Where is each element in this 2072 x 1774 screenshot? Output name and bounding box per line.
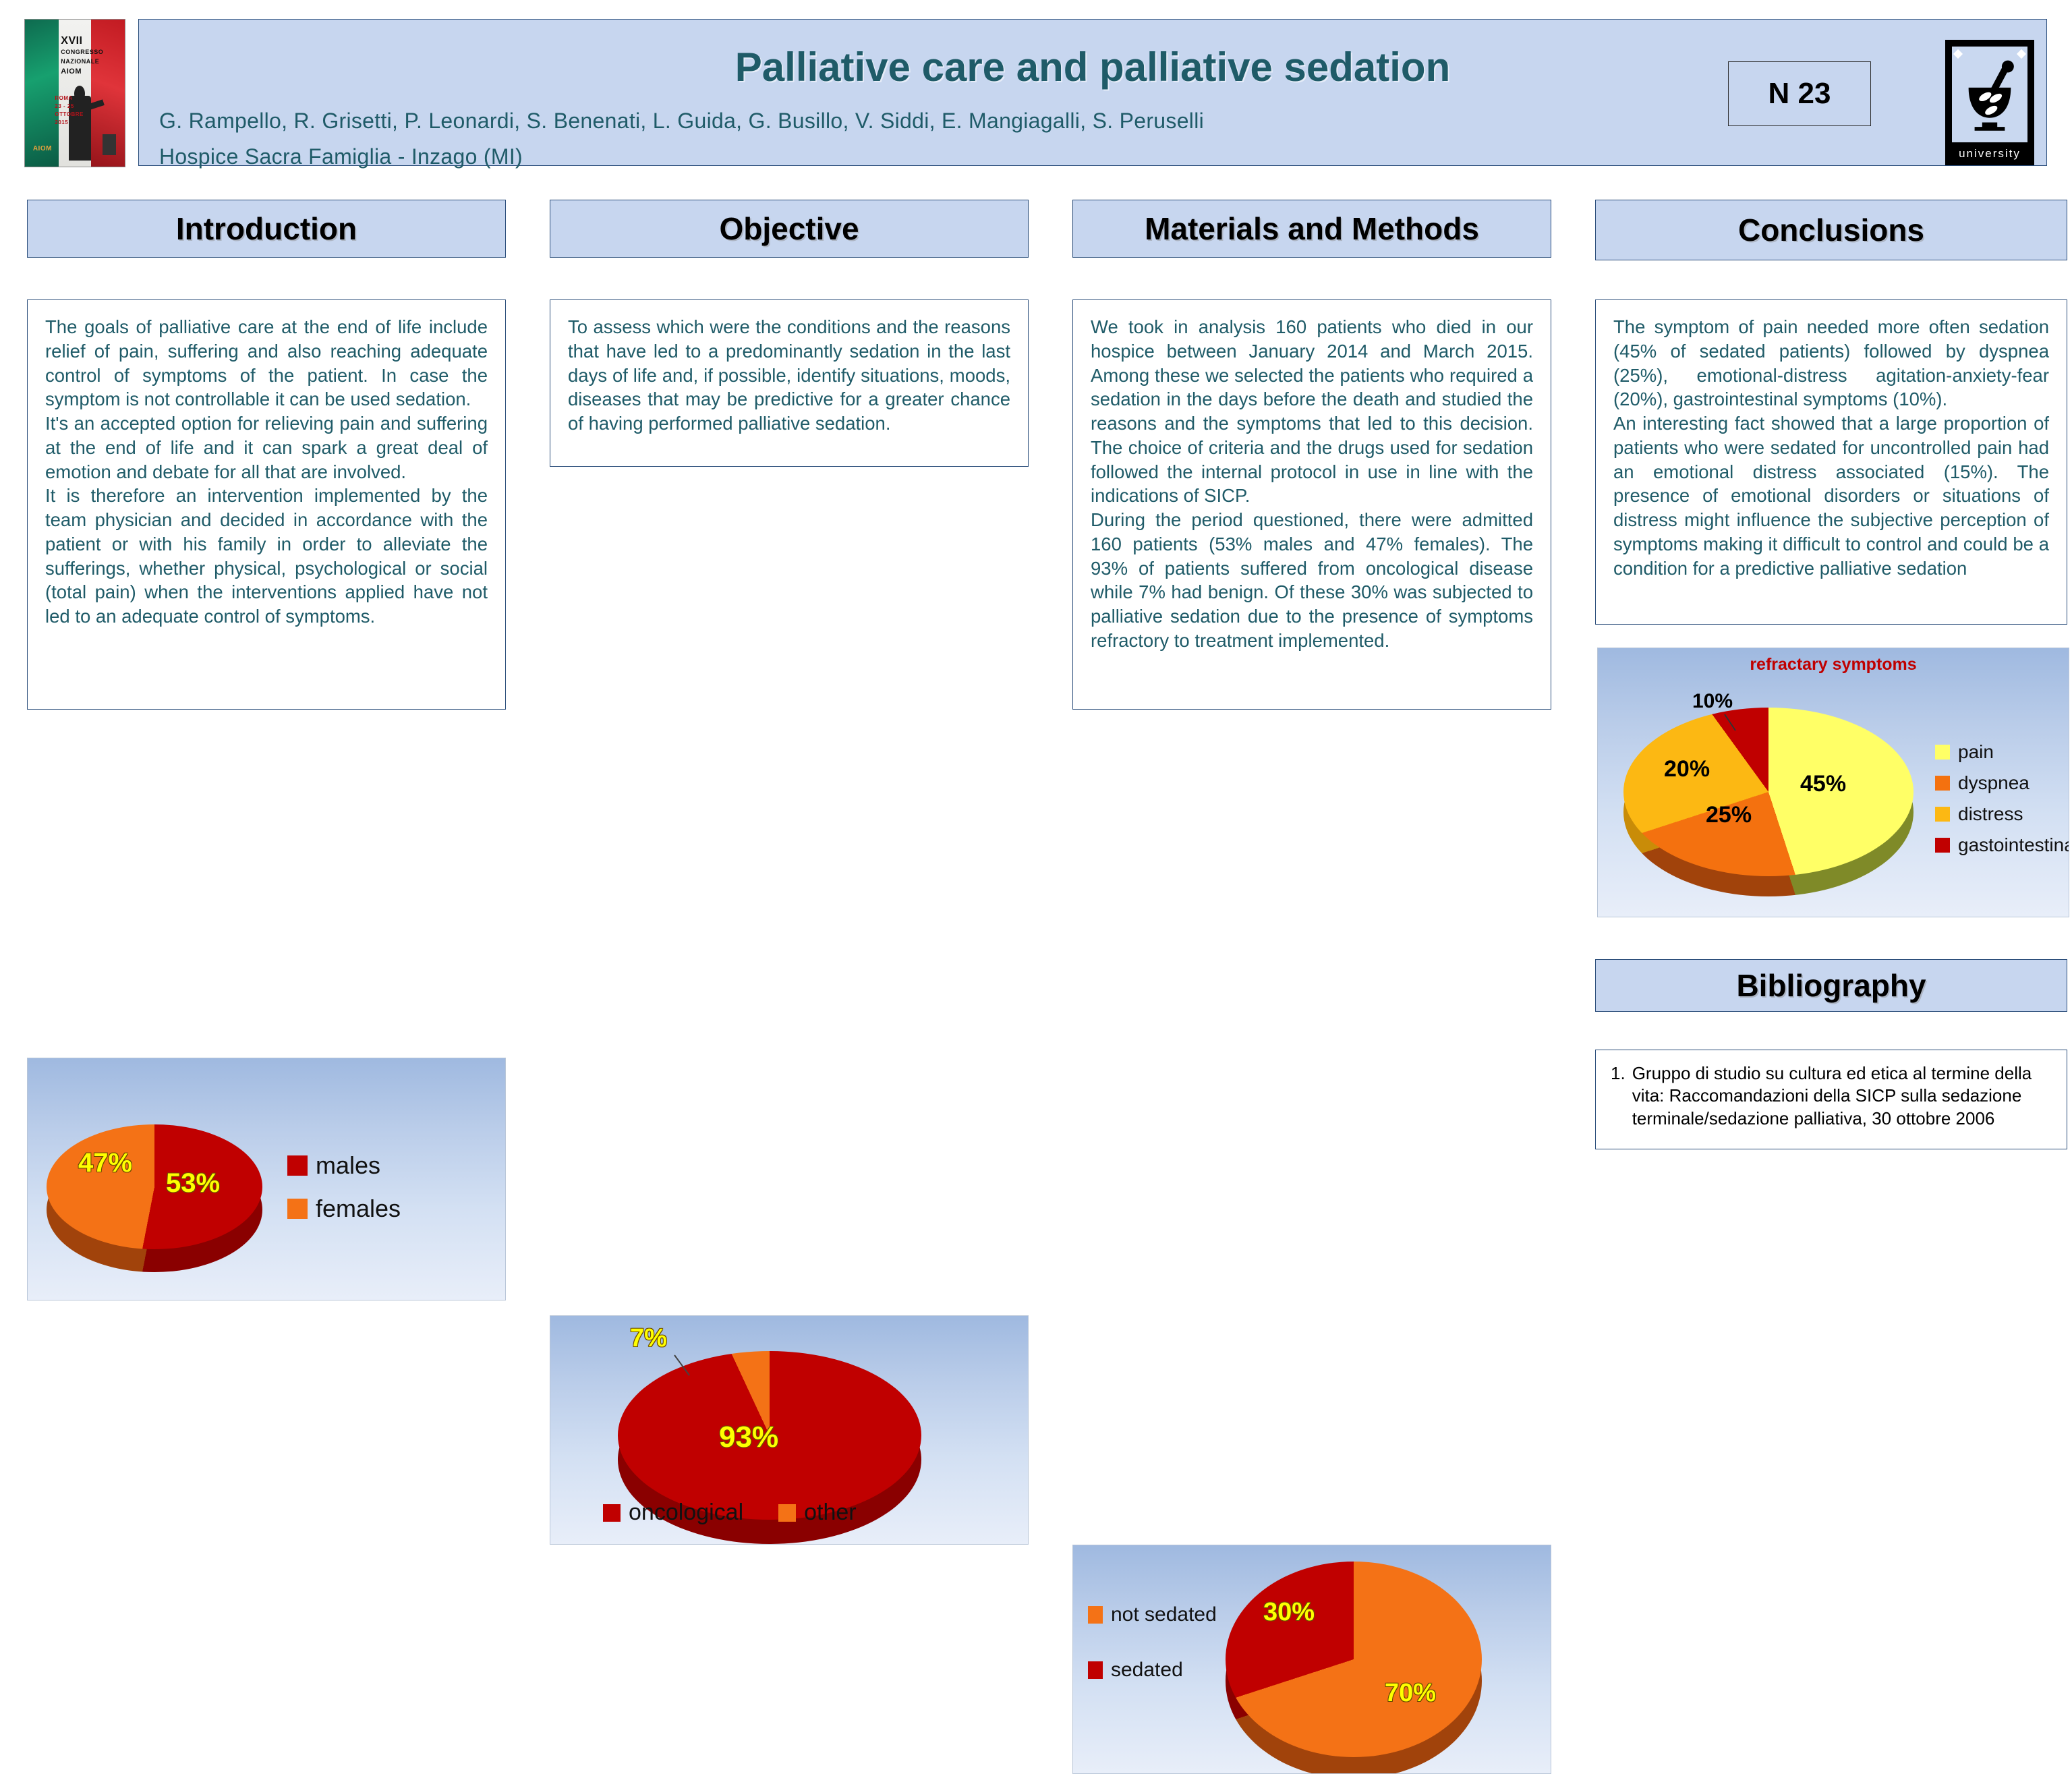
section-body-bibliography: 1. Gruppo di studio su cultura ed etica … <box>1595 1050 2067 1149</box>
slice-label-dyspnea: 25% <box>1706 802 1752 828</box>
leader-line-gastointestinal <box>1723 713 1750 740</box>
bibliography-entry-text: Gruppo di studio su cultura ed etica al … <box>1632 1062 2052 1130</box>
legend-label-females: females <box>316 1195 401 1223</box>
section-heading-objective: Objective <box>550 200 1029 258</box>
poster-number-badge: N 23 <box>1728 61 1871 126</box>
legend-sedation: not sedated sedated <box>1088 1603 1217 1691</box>
legend-swatch-sedated <box>1088 1661 1103 1679</box>
thumbnail-line-3: NAZIONALE <box>61 59 99 65</box>
slice-label-sedated: 30% <box>1263 1598 1315 1627</box>
legend-item: gastointestinal <box>1935 834 2069 856</box>
bibliography-entry-number: 1. <box>1611 1062 1625 1130</box>
thumbnail-line-7: OTTOBRE <box>55 112 83 117</box>
section-heading-materials-and-methods: Materials and Methods <box>1072 200 1551 258</box>
legend-label-dyspnea: dyspnea <box>1958 772 2030 794</box>
chart-refractory-symptoms: refractary symptoms 45% 25% 20% 10% pain… <box>1597 648 2069 917</box>
mortar-and-pestle-icon <box>1952 47 2027 142</box>
legend-item: males <box>287 1151 401 1180</box>
legend-label-gastointestinal: gastointestinal <box>1958 834 2069 856</box>
legend-label-not-sedated: not sedated <box>1111 1603 1217 1626</box>
legend-label-sedated: sedated <box>1111 1659 1183 1682</box>
university-logo-label: university <box>1952 142 2027 165</box>
legend-item: sedated <box>1088 1659 1217 1682</box>
legend-label-males: males <box>316 1151 380 1180</box>
pie-graphic-refractory-symptoms <box>1623 708 1913 876</box>
chart-gender-distribution: 53% 47% males females <box>27 1058 506 1300</box>
slice-label-not-sedated: 70% <box>1385 1679 1436 1708</box>
slice-label-gastointestinal: 10% <box>1692 690 1733 713</box>
congress-poster-thumbnail: XVII CONGRESSO NAZIONALE AIOM ROMA 23 - … <box>24 19 125 167</box>
legend-item: dyspnea <box>1935 772 2069 794</box>
slice-label-oncological: 93% <box>719 1421 778 1454</box>
pie-graphic-sedation <box>1226 1562 1482 1757</box>
legend-label-pain: pain <box>1958 741 1994 763</box>
legend-swatch-distress <box>1935 807 1950 822</box>
author-list: G. Rampello, R. Grisetti, P. Leonardi, S… <box>159 109 1204 134</box>
legend-swatch-not-sedated <box>1088 1606 1103 1624</box>
legend-label-distress: distress <box>1958 803 2023 825</box>
aiom-logo-mark: AIOM <box>33 146 52 153</box>
chart-title-refractory-symptoms: refractary symptoms <box>1598 655 2069 675</box>
legend-refractory-symptoms: pain dyspnea distress gastointestinal <box>1935 741 2069 865</box>
thumbnail-line-5: ROMA <box>55 96 72 101</box>
legend-swatch-other <box>778 1504 796 1522</box>
thumbnail-line-4: AIOM <box>61 68 82 76</box>
objective-text: To assess which were the conditions and … <box>568 315 1010 436</box>
legend-swatch-oncological <box>603 1504 621 1522</box>
pie-graphic-gender <box>47 1124 262 1249</box>
affiliation: Hospice Sacra Famiglia - Inzago (MI) <box>159 144 523 169</box>
legend-label-other: other <box>804 1499 857 1526</box>
legend-item: oncological <box>603 1499 743 1526</box>
legend-swatch-dyspnea <box>1935 776 1950 791</box>
thumbnail-line-2: CONGRESSO <box>61 49 103 55</box>
slice-label-males: 53% <box>166 1168 220 1199</box>
section-heading-bibliography: Bibliography <box>1595 959 2067 1012</box>
legend-gender: males females <box>287 1151 401 1232</box>
section-heading-introduction: Introduction <box>27 200 506 258</box>
legend-label-oncological: oncological <box>629 1499 743 1526</box>
conclusions-text: The symptom of pain needed more often se… <box>1613 315 2049 580</box>
section-body-objective: To assess which were the conditions and … <box>550 299 1029 467</box>
slice-label-pain: 45% <box>1800 771 1846 797</box>
introduction-text: The goals of palliative care at the end … <box>45 315 488 629</box>
section-body-introduction: The goals of palliative care at the end … <box>27 299 506 710</box>
section-body-conclusions: The symptom of pain needed more often se… <box>1595 299 2067 625</box>
section-body-materials-and-methods: We took in analysis 160 patients who die… <box>1072 299 1551 710</box>
slice-label-females: 47% <box>78 1148 132 1178</box>
legend-item: females <box>287 1195 401 1223</box>
legend-item: not sedated <box>1088 1603 1217 1626</box>
legend-swatch-females <box>287 1199 308 1219</box>
section-heading-conclusions: Conclusions <box>1595 200 2067 260</box>
chart-disease-type: 93% 7% oncological other <box>550 1315 1029 1545</box>
thumbnail-line-6: 23 - 25 <box>55 104 74 109</box>
poster-header: Palliative care and palliative sedation … <box>138 19 2047 166</box>
materials-and-methods-text: We took in analysis 160 patients who die… <box>1091 315 1533 653</box>
legend-item: pain <box>1935 741 2069 763</box>
slice-label-distress: 20% <box>1664 756 1710 782</box>
legend-swatch-gastointestinal <box>1935 838 1950 853</box>
leader-line-other <box>673 1354 701 1383</box>
legend-swatch-pain <box>1935 745 1950 760</box>
thumbnail-line-1: XVII <box>61 36 82 47</box>
thumbnail-line-8: 2015 <box>55 120 68 125</box>
legend-item: distress <box>1935 803 2069 825</box>
legend-swatch-males <box>287 1155 308 1176</box>
university-logo: university <box>1945 40 2034 165</box>
chart-sedation-rate: 70% 30% not sedated sedated <box>1072 1545 1551 1774</box>
legend-item: other <box>778 1499 857 1526</box>
legend-disease: oncological other <box>603 1499 857 1526</box>
bibliography-entry: 1. Gruppo di studio su cultura ed etica … <box>1611 1062 2052 1130</box>
slice-label-other: 7% <box>630 1324 667 1353</box>
